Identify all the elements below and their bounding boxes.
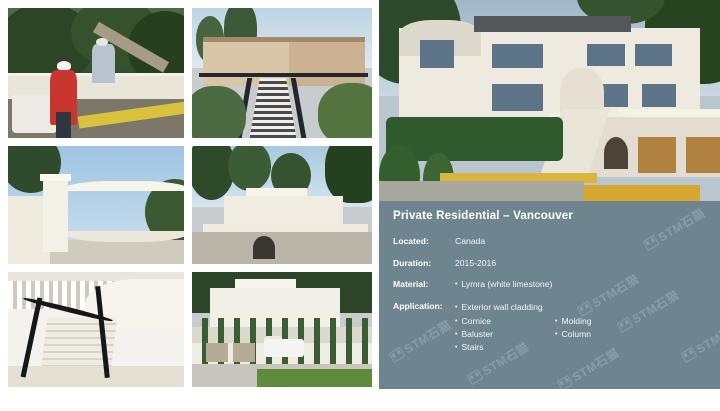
spec-value: 2015-2016 bbox=[455, 258, 496, 269]
spec-row-duration: Duration: 2015-2016 bbox=[393, 258, 706, 269]
watermark-logo-icon bbox=[557, 375, 574, 389]
slide-root: STM石猫 STM石猫 STM石猫 STM石猫 STM石猫 STM石猫 STM石… bbox=[0, 0, 720, 411]
application-item: Baluster bbox=[455, 328, 555, 341]
application-item: Column bbox=[555, 328, 655, 341]
spec-row-located: Located: Canada bbox=[393, 236, 706, 247]
application-item: Stairs bbox=[455, 341, 655, 354]
spec-label: Application: bbox=[393, 301, 455, 312]
photo-finished-mansion[interactable] bbox=[192, 272, 372, 387]
application-item: Molding bbox=[555, 315, 655, 328]
project-info-panel: STM石猫 STM石猫 STM石猫 STM石猫 STM石猫 STM石猫 STM石… bbox=[379, 201, 720, 389]
photo-mansion-construction[interactable] bbox=[192, 146, 372, 264]
photo-curved-stairs-ironwork[interactable] bbox=[8, 272, 184, 387]
photo-grid bbox=[8, 8, 372, 387]
application-item: Exterior wall cladding bbox=[455, 301, 655, 314]
page-title: Private Residential – Vancouver bbox=[393, 210, 706, 222]
watermark-logo-icon bbox=[467, 369, 484, 385]
spec-row-application: Application: Exterior wall cladding Corn… bbox=[393, 301, 706, 354]
photo-install-balustrade[interactable] bbox=[8, 8, 184, 138]
material-list: Lymra (white limestone) bbox=[455, 279, 552, 290]
application-item: Cornice bbox=[455, 315, 555, 328]
photo-curved-balustrade[interactable] bbox=[8, 146, 184, 264]
material-item: Lymra (white limestone) bbox=[455, 279, 552, 289]
photo-building-staircase[interactable] bbox=[192, 8, 372, 138]
spec-value: Canada bbox=[455, 236, 485, 247]
spec-label: Duration: bbox=[393, 258, 455, 269]
spec-label: Material: bbox=[393, 279, 455, 290]
right-column: STM石猫 STM石猫 STM石猫 STM石猫 STM石猫 STM石猫 STM石… bbox=[379, 0, 720, 389]
spec-row-material: Material: Lymra (white limestone) bbox=[393, 279, 706, 290]
photo-rendering-mansion[interactable] bbox=[379, 0, 720, 201]
application-list: Exterior wall cladding Cornice Molding B… bbox=[455, 301, 655, 354]
spec-label: Located: bbox=[393, 236, 455, 247]
